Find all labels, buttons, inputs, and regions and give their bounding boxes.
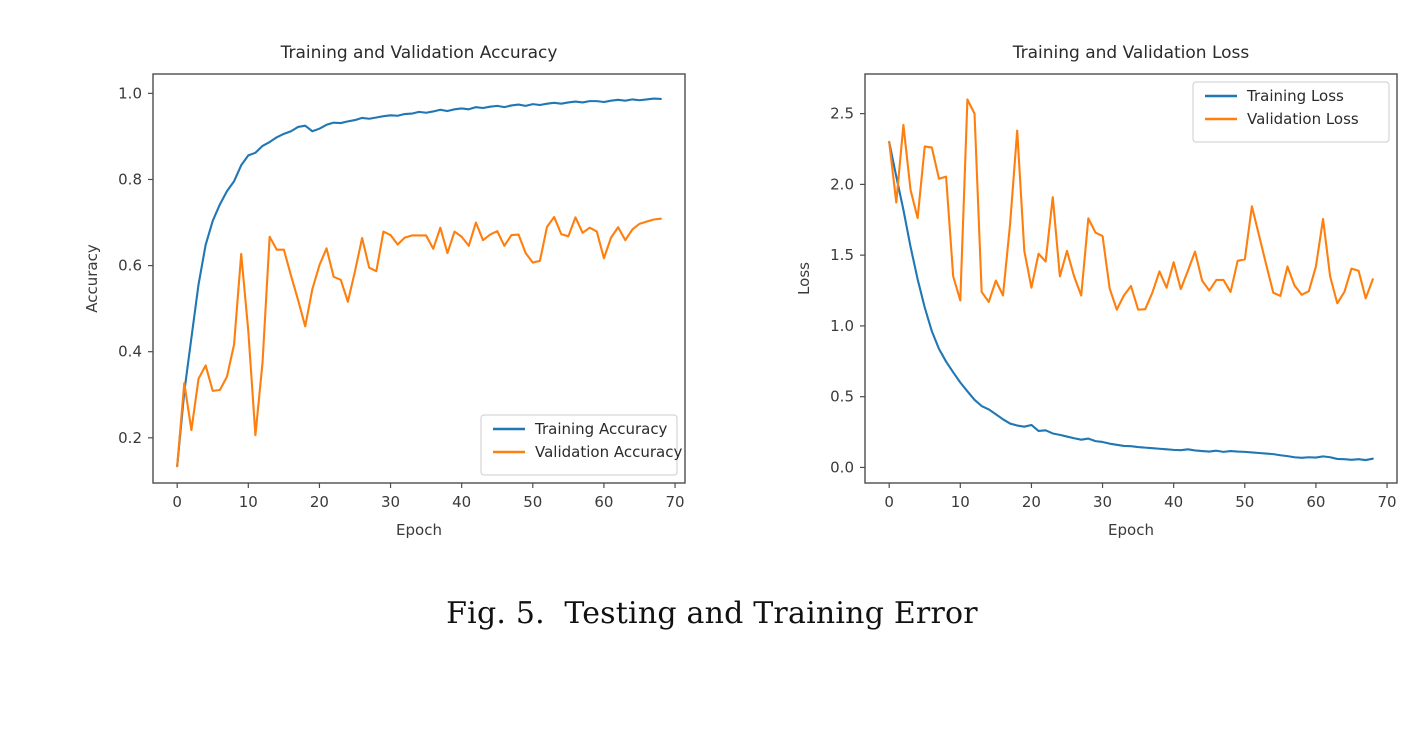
series-line-training-loss xyxy=(889,142,1373,460)
y-tick-label: 0.6 xyxy=(118,257,142,275)
plot-title: Training and Validation Loss xyxy=(1012,43,1250,63)
x-tick-label: 40 xyxy=(1164,493,1183,511)
y-tick-label: 2.5 xyxy=(830,105,854,123)
x-tick-label: 40 xyxy=(452,493,471,511)
y-tick-label: 0.2 xyxy=(118,429,142,447)
loss-plot-svg: Training and Validation Loss010203040506… xyxy=(712,0,1424,560)
legend-label-training-accuracy: Training Accuracy xyxy=(534,420,668,438)
x-tick-label: 30 xyxy=(381,493,400,511)
y-tick-label: 1.0 xyxy=(118,84,142,102)
y-tick-label: 1.5 xyxy=(830,246,854,264)
x-axis-label: Epoch xyxy=(1108,521,1154,539)
x-tick-label: 0 xyxy=(884,493,894,511)
x-tick-label: 70 xyxy=(665,493,684,511)
legend-label-validation-loss: Validation Loss xyxy=(1247,110,1359,128)
legend: Training LossValidation Loss xyxy=(1193,82,1389,142)
y-tick-label: 0.8 xyxy=(118,170,142,188)
legend: Training AccuracyValidation Accuracy xyxy=(481,415,682,475)
x-tick-label: 0 xyxy=(172,493,182,511)
accuracy-plot-svg: Training and Validation Accuracy01020304… xyxy=(0,0,712,560)
x-tick-label: 20 xyxy=(310,493,329,511)
y-tick-label: 0.0 xyxy=(830,458,854,476)
x-tick-label: 50 xyxy=(1235,493,1254,511)
y-tick-label: 1.0 xyxy=(830,317,854,335)
x-tick-label: 50 xyxy=(523,493,542,511)
accuracy-plot-panel: Training and Validation Accuracy01020304… xyxy=(0,0,712,560)
series-line-training-accuracy xyxy=(177,99,661,467)
x-tick-label: 20 xyxy=(1022,493,1041,511)
x-tick-label: 70 xyxy=(1377,493,1396,511)
x-axis-label: Epoch xyxy=(396,521,442,539)
y-axis-label: Loss xyxy=(795,262,813,295)
y-axis-label: Accuracy xyxy=(83,244,101,313)
plot-title: Training and Validation Accuracy xyxy=(280,43,558,63)
figure-container: Training and Validation Accuracy01020304… xyxy=(0,0,1424,742)
loss-plot-panel: Training and Validation Loss010203040506… xyxy=(712,0,1424,560)
figure-caption: Fig. 5. Testing and Training Error xyxy=(0,596,1424,631)
x-tick-label: 60 xyxy=(594,493,613,511)
y-tick-label: 2.0 xyxy=(830,175,854,193)
y-tick-label: 0.4 xyxy=(118,343,142,361)
legend-label-training-loss: Training Loss xyxy=(1246,87,1344,105)
y-tick-label: 0.5 xyxy=(830,388,854,406)
x-tick-label: 60 xyxy=(1306,493,1325,511)
x-tick-label: 10 xyxy=(951,493,970,511)
legend-label-validation-accuracy: Validation Accuracy xyxy=(535,443,682,461)
x-tick-label: 10 xyxy=(239,493,258,511)
plot-panels: Training and Validation Accuracy01020304… xyxy=(0,0,1424,560)
x-tick-label: 30 xyxy=(1093,493,1112,511)
